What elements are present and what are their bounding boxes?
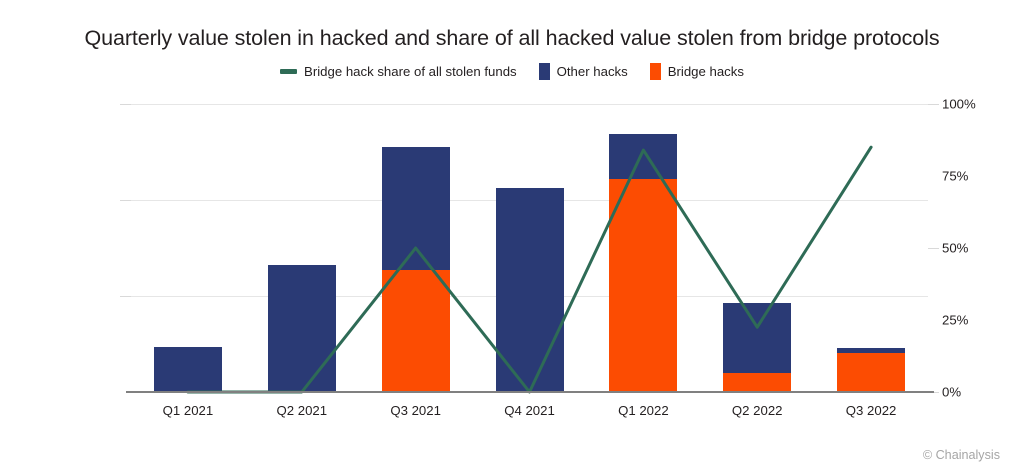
y-tick-left — [120, 296, 131, 297]
legend-label-bridge-share: Bridge hack share of all stolen funds — [304, 64, 517, 79]
legend-box-marker-icon — [650, 63, 661, 80]
chart-container: Quarterly value stolen in hacked and sha… — [0, 0, 1024, 476]
line-series-bridge-share — [131, 104, 928, 392]
legend-item-bridge-share[interactable]: Bridge hack share of all stolen funds — [280, 64, 517, 79]
x-axis-tick-label: Q3 2022 — [814, 396, 928, 418]
chart-title: Quarterly value stolen in hacked and sha… — [0, 26, 1024, 51]
x-axis-tick-label: Q4 2021 — [473, 396, 587, 418]
y-axis-right-tick-label: 75% — [942, 169, 968, 184]
attribution-footer: © Chainalysis — [923, 448, 1000, 462]
line-path-bridge-share — [188, 147, 871, 392]
y-axis-right: 0%25%50%75%100% — [928, 104, 1024, 392]
x-axis-labels: Q1 2021Q2 2021Q3 2021Q4 2021Q1 2022Q2 20… — [131, 396, 928, 418]
x-axis-tick-label: Q2 2022 — [700, 396, 814, 418]
y-axis-right-tick-label: 100% — [942, 97, 976, 112]
plot-area — [131, 104, 928, 392]
x-axis-tick-label: Q3 2021 — [359, 396, 473, 418]
y-axis-right-tick-label: 25% — [942, 313, 968, 328]
legend-item-bridge-hacks[interactable]: Bridge hacks — [650, 63, 744, 80]
chart-legend: Bridge hack share of all stolen funds Ot… — [0, 63, 1024, 80]
y-tick-right — [928, 248, 939, 249]
x-axis-tick-label: Q1 2021 — [131, 396, 245, 418]
legend-label-bridge-hacks: Bridge hacks — [668, 64, 744, 79]
y-axis-right-tick-label: 0% — [942, 385, 961, 400]
x-axis-baseline — [126, 391, 934, 393]
legend-label-other-hacks: Other hacks — [557, 64, 628, 79]
y-axis-right-tick-label: 50% — [942, 241, 968, 256]
y-tick-left — [120, 200, 131, 201]
x-axis-tick-label: Q2 2021 — [245, 396, 359, 418]
y-tick-left — [120, 104, 131, 105]
legend-line-marker-icon — [280, 69, 297, 74]
legend-box-marker-icon — [539, 63, 550, 80]
x-axis-tick-label: Q1 2022 — [586, 396, 700, 418]
y-tick-right — [928, 104, 939, 105]
legend-item-other-hacks[interactable]: Other hacks — [539, 63, 628, 80]
